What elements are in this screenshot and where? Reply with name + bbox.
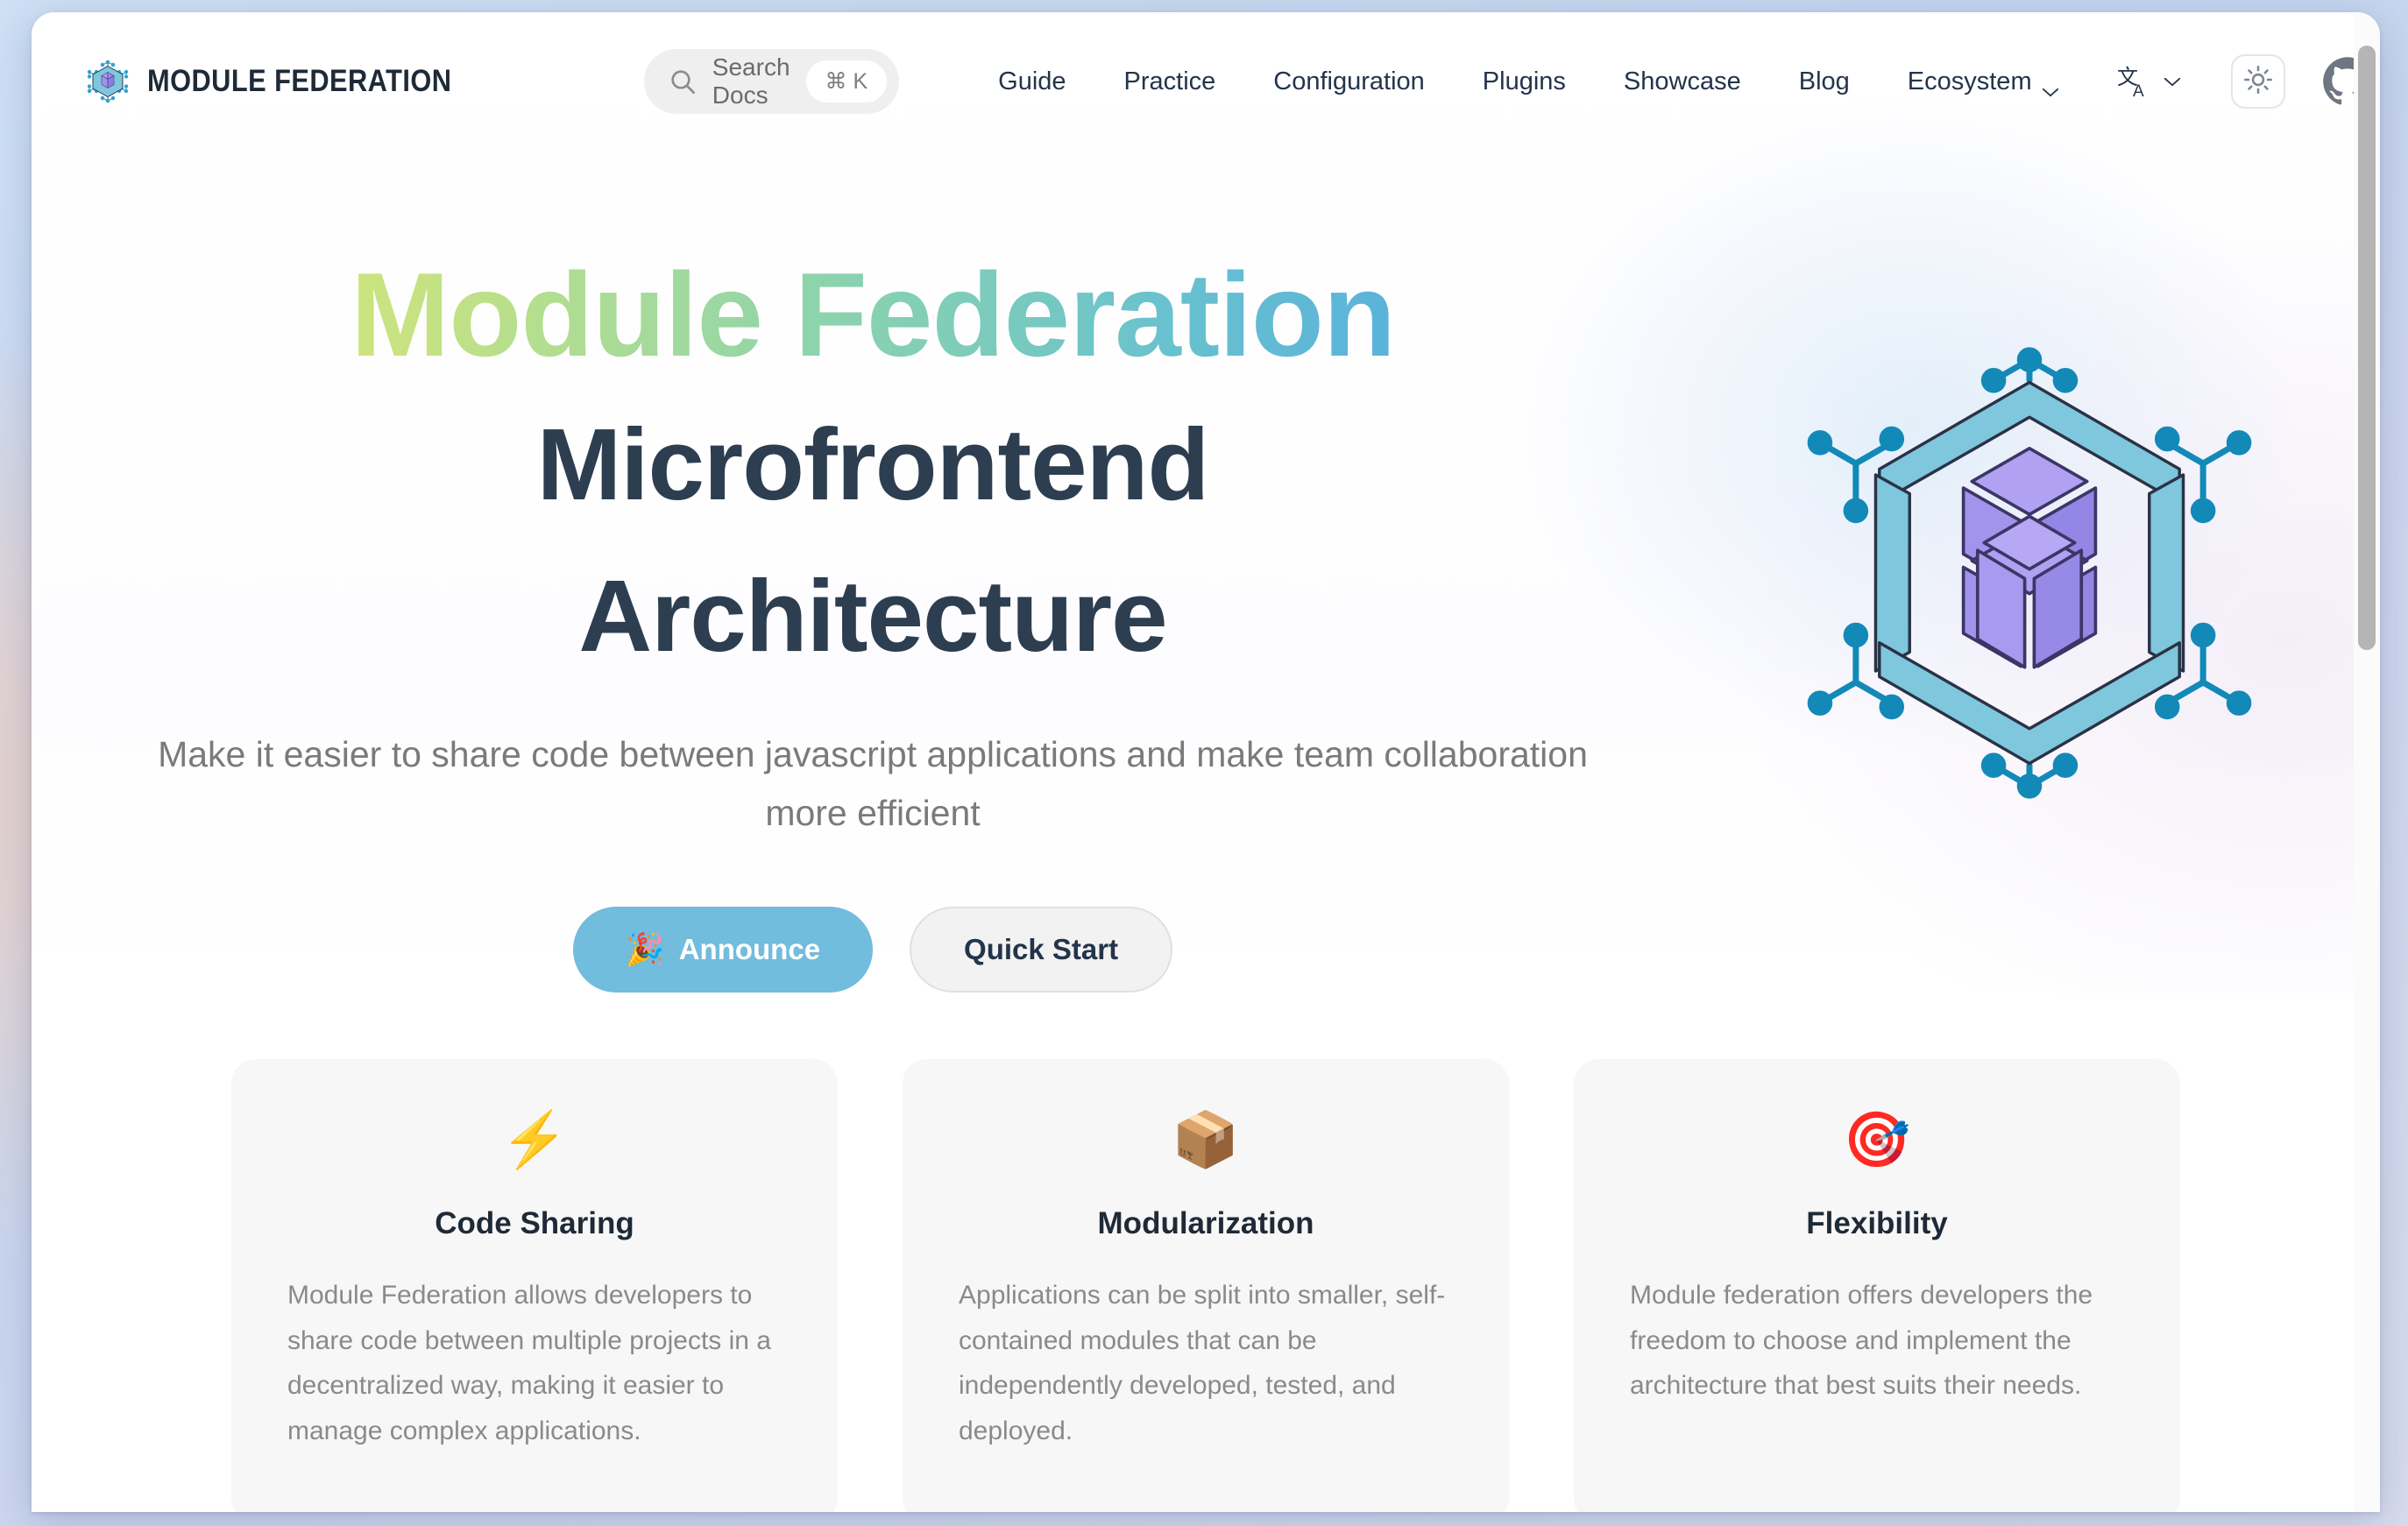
language-switcher-button[interactable]: 文 A — [2112, 63, 2187, 100]
feature-card-title: Flexibility — [1630, 1206, 2124, 1241]
nav-right-controls: 文 A — [2112, 54, 2373, 109]
announce-button-label: Announce — [679, 933, 820, 966]
hero-subtitle-line1: Microfrontend — [67, 399, 1679, 531]
hero-section: Module Federation Microfrontend Architec… — [32, 151, 2380, 993]
target-dart-icon: 🎯 — [1630, 1113, 2124, 1168]
feature-card-description: Applications can be split into smaller, … — [959, 1273, 1453, 1453]
brand-home-link[interactable]: MODULE FEDERATION — [86, 60, 493, 103]
search-docs-button[interactable]: Search Docs ⌘ K — [644, 49, 899, 114]
nav-item-ecosystem-label: Ecosystem — [1908, 67, 2032, 96]
search-shortcut-badge: ⌘ K — [806, 60, 888, 102]
vertical-scrollbar-thumb[interactable] — [2358, 46, 2376, 650]
hero-illustration-column — [1679, 163, 2380, 818]
search-input-placeholder: Search Docs — [712, 53, 790, 110]
lightning-bolt-icon: ⚡ — [287, 1113, 782, 1168]
nav-item-showcase-label: Showcase — [1624, 67, 1741, 96]
feature-cards-section: ⚡ Code Sharing Module Federation allows … — [32, 1038, 2380, 1512]
party-popper-icon: 🎉 — [626, 931, 665, 968]
browser-window: MODULE FEDERATION Search Docs ⌘ K Guide … — [32, 12, 2380, 1512]
module-federation-cube-illustration — [1784, 328, 2275, 818]
brand-name-text: MODULE FEDERATION — [147, 64, 451, 99]
nav-item-plugins[interactable]: Plugins — [1454, 67, 1595, 96]
nav-item-blog[interactable]: Blog — [1770, 67, 1879, 96]
nav-item-showcase[interactable]: Showcase — [1595, 67, 1770, 96]
announce-button[interactable]: 🎉 Announce — [573, 907, 873, 993]
feature-card-title: Code Sharing — [287, 1206, 782, 1241]
page-scroll-area[interactable]: MODULE FEDERATION Search Docs ⌘ K Guide … — [32, 12, 2380, 1512]
svg-text:A: A — [2133, 82, 2144, 100]
nav-links: Guide Practice Configuration Plugins Sho… — [969, 67, 2088, 96]
hero-text-column: Module Federation Microfrontend Architec… — [32, 163, 1679, 993]
chevron-down-icon — [2041, 76, 2060, 88]
nav-item-configuration[interactable]: Configuration — [1244, 67, 1454, 96]
vertical-scrollbar-track[interactable] — [2354, 12, 2380, 1512]
quick-start-button-label: Quick Start — [964, 933, 1118, 966]
feature-card-description: Module federation offers developers the … — [1630, 1273, 2124, 1409]
feature-card-modularization: 📦 Modularization Applications can be spl… — [903, 1059, 1509, 1512]
site-navbar: MODULE FEDERATION Search Docs ⌘ K Guide … — [32, 12, 2380, 151]
search-icon — [669, 67, 697, 95]
quick-start-button[interactable]: Quick Start — [910, 907, 1172, 993]
chevron-down-icon — [2163, 76, 2182, 88]
nav-item-guide[interactable]: Guide — [969, 67, 1094, 96]
module-federation-logo-icon — [86, 60, 130, 103]
hero-action-buttons: 🎉 Announce Quick Start — [67, 907, 1679, 993]
hero-subtitle-line2: Architecture — [67, 550, 1679, 682]
feature-card-title: Modularization — [959, 1206, 1453, 1241]
feature-card-flexibility: 🎯 Flexibility Module federation offers d… — [1574, 1059, 2180, 1512]
nav-item-configuration-label: Configuration — [1273, 67, 1425, 96]
nav-item-guide-label: Guide — [998, 67, 1066, 96]
sun-icon — [2243, 65, 2273, 99]
nav-item-practice[interactable]: Practice — [1095, 67, 1245, 96]
nav-item-plugins-label: Plugins — [1483, 67, 1566, 96]
package-box-icon: 📦 — [959, 1113, 1453, 1168]
theme-toggle-button[interactable] — [2231, 54, 2285, 109]
nav-item-ecosystem[interactable]: Ecosystem — [1879, 67, 2089, 96]
feature-card-code-sharing: ⚡ Code Sharing Module Federation allows … — [231, 1059, 838, 1512]
nav-item-practice-label: Practice — [1124, 67, 1216, 96]
hero-description: Make it easier to share code between jav… — [154, 725, 1591, 842]
translate-icon: 文 A — [2117, 63, 2152, 100]
feature-card-description: Module Federation allows developers to s… — [287, 1273, 782, 1453]
nav-item-blog-label: Blog — [1799, 67, 1850, 96]
hero-gradient-title: Module Federation — [67, 251, 1679, 379]
